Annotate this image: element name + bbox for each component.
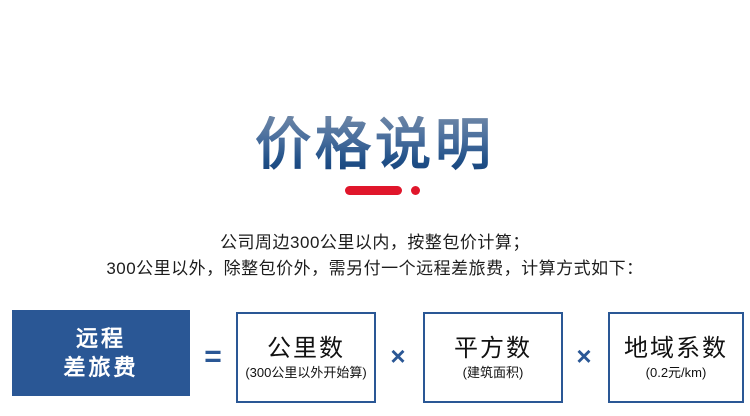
description-line-2: 300公里以外，除整包价外，需另付一个远程差旅费，计算方式如下： [0, 256, 750, 282]
term-region-note: (0.2元/km) [646, 364, 707, 381]
term-distance-note: (300公里以外开始算) [245, 364, 366, 381]
term-box-area: 平方数 (建筑面积) [423, 312, 563, 403]
term-distance-title: 公里数 [267, 335, 345, 363]
travel-fee-label-line-2: 差旅费 [63, 353, 138, 382]
equals-operator-icon: = [196, 310, 230, 403]
travel-fee-result-box: 远程 差旅费 [12, 310, 190, 396]
multiply-operator-1-icon: × [378, 310, 418, 403]
term-region-title: 地域系数 [624, 335, 728, 363]
description-text: 公司周边300公里以内，按整包价计算； 300公里以外，除整包价外，需另付一个远… [0, 230, 750, 282]
divider-bar-icon [345, 186, 402, 195]
term-area-note: (建筑面积) [463, 364, 524, 381]
term-box-region-coefficient: 地域系数 (0.2元/km) [608, 312, 744, 403]
title-divider [0, 184, 750, 196]
term-box-distance: 公里数 (300公里以外开始算) [236, 312, 376, 403]
page-title: 价格说明 [255, 116, 495, 175]
multiply-operator-2-icon: × [564, 310, 604, 403]
description-line-1: 公司周边300公里以内，按整包价计算； [0, 230, 750, 256]
term-area-title: 平方数 [454, 335, 532, 363]
travel-fee-label-line-1: 远程 [76, 324, 126, 353]
price-explanation-page: 价格说明 公司周边300公里以内，按整包价计算； 300公里以外，除整包价外，需… [0, 0, 750, 416]
formula-row: 远程 差旅费 = 公里数 (300公里以外开始算) × 平方数 (建筑面积) ×… [0, 310, 750, 405]
divider-dot-icon [411, 186, 420, 195]
